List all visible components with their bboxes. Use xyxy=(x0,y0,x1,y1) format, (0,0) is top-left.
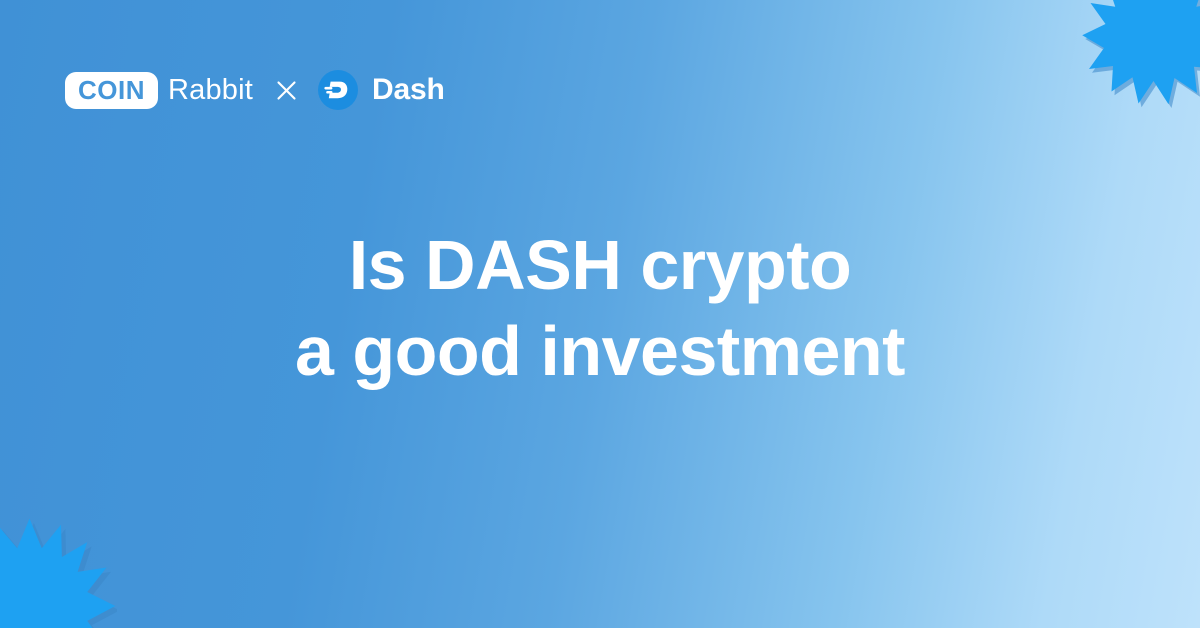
page-title: Is DASH crypto a good investment xyxy=(0,222,1200,394)
page-title-line-2: a good investment xyxy=(60,308,1140,394)
dash-coin-icon xyxy=(318,70,358,110)
dash-wordmark: Dash xyxy=(372,75,445,105)
logo-bar: COIN Rabbit Dash xyxy=(65,66,445,114)
coin-badge: COIN xyxy=(65,72,158,109)
coin-badge-label: COIN xyxy=(78,77,145,103)
starburst-bottom-left-icon xyxy=(0,515,117,628)
banner-root: COIN Rabbit Dash Is DASH crypto xyxy=(0,0,1200,628)
starburst-top-right-icon xyxy=(1080,0,1200,108)
coinrabbit-logo[interactable]: COIN Rabbit xyxy=(65,72,253,109)
coinrabbit-wordmark: Rabbit xyxy=(168,75,253,105)
page-title-line-1: Is DASH crypto xyxy=(60,222,1140,308)
dash-logo[interactable]: Dash xyxy=(318,70,445,110)
cross-separator-icon xyxy=(277,81,296,100)
